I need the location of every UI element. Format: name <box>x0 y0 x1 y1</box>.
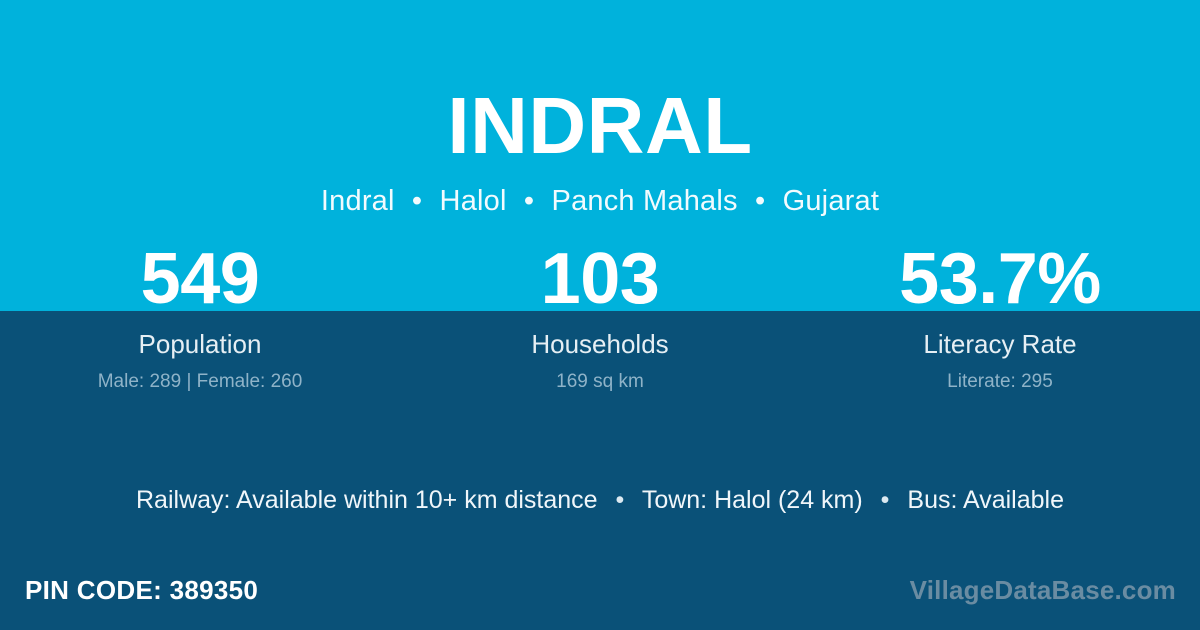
breadcrumb: Indral • Halol • Panch Mahals • Gujarat <box>0 170 1200 218</box>
stat-label: Households <box>400 329 800 359</box>
breadcrumb-item-block: Halol <box>440 185 507 217</box>
stat-literacy-rate: 53.7% Literacy Rate Literate: 295 <box>800 243 1200 393</box>
breadcrumb-separator: • <box>746 184 774 218</box>
breadcrumb-item-village: Indral <box>321 185 395 217</box>
breadcrumb-item-state: Gujarat <box>783 185 880 217</box>
card-header: INDRAL Indral • Halol • Panch Mahals • G… <box>0 0 1200 218</box>
stat-population: 549 Population Male: 289 | Female: 260 <box>0 243 400 393</box>
stat-detail: Male: 289 | Female: 260 <box>0 370 400 393</box>
stat-value: 53.7% <box>800 243 1200 315</box>
amenity-separator: • <box>870 484 901 516</box>
breadcrumb-item-district: Panch Mahals <box>552 185 738 217</box>
stat-label: Population <box>0 329 400 359</box>
breadcrumb-separator: • <box>515 184 543 218</box>
stat-detail: Literate: 295 <box>800 370 1200 393</box>
card-footer: PIN CODE: 389350 VillageDataBase.com <box>0 573 1200 615</box>
amenity-town: Town: Halol (24 km) <box>642 486 863 514</box>
stat-detail: 169 sq km <box>400 370 800 393</box>
stat-value: 103 <box>400 243 800 315</box>
pin-code-label: PIN CODE: 389350 <box>25 573 258 607</box>
stat-label: Literacy Rate <box>800 329 1200 359</box>
amenity-railway: Railway: Available within 10+ km distanc… <box>136 486 598 514</box>
village-info-card: INDRAL Indral • Halol • Panch Mahals • G… <box>0 0 1200 630</box>
amenity-bus: Bus: Available <box>907 486 1064 514</box>
amenity-separator: • <box>605 484 636 516</box>
statistics-row: 549 Population Male: 289 | Female: 260 1… <box>0 243 1200 393</box>
page-title: INDRAL <box>0 0 1200 170</box>
site-watermark: VillageDataBase.com <box>910 573 1176 607</box>
amenities-line: Railway: Available within 10+ km distanc… <box>0 484 1200 516</box>
stat-value: 549 <box>0 243 400 315</box>
stat-households: 103 Households 169 sq km <box>400 243 800 393</box>
breadcrumb-separator: • <box>403 184 431 218</box>
